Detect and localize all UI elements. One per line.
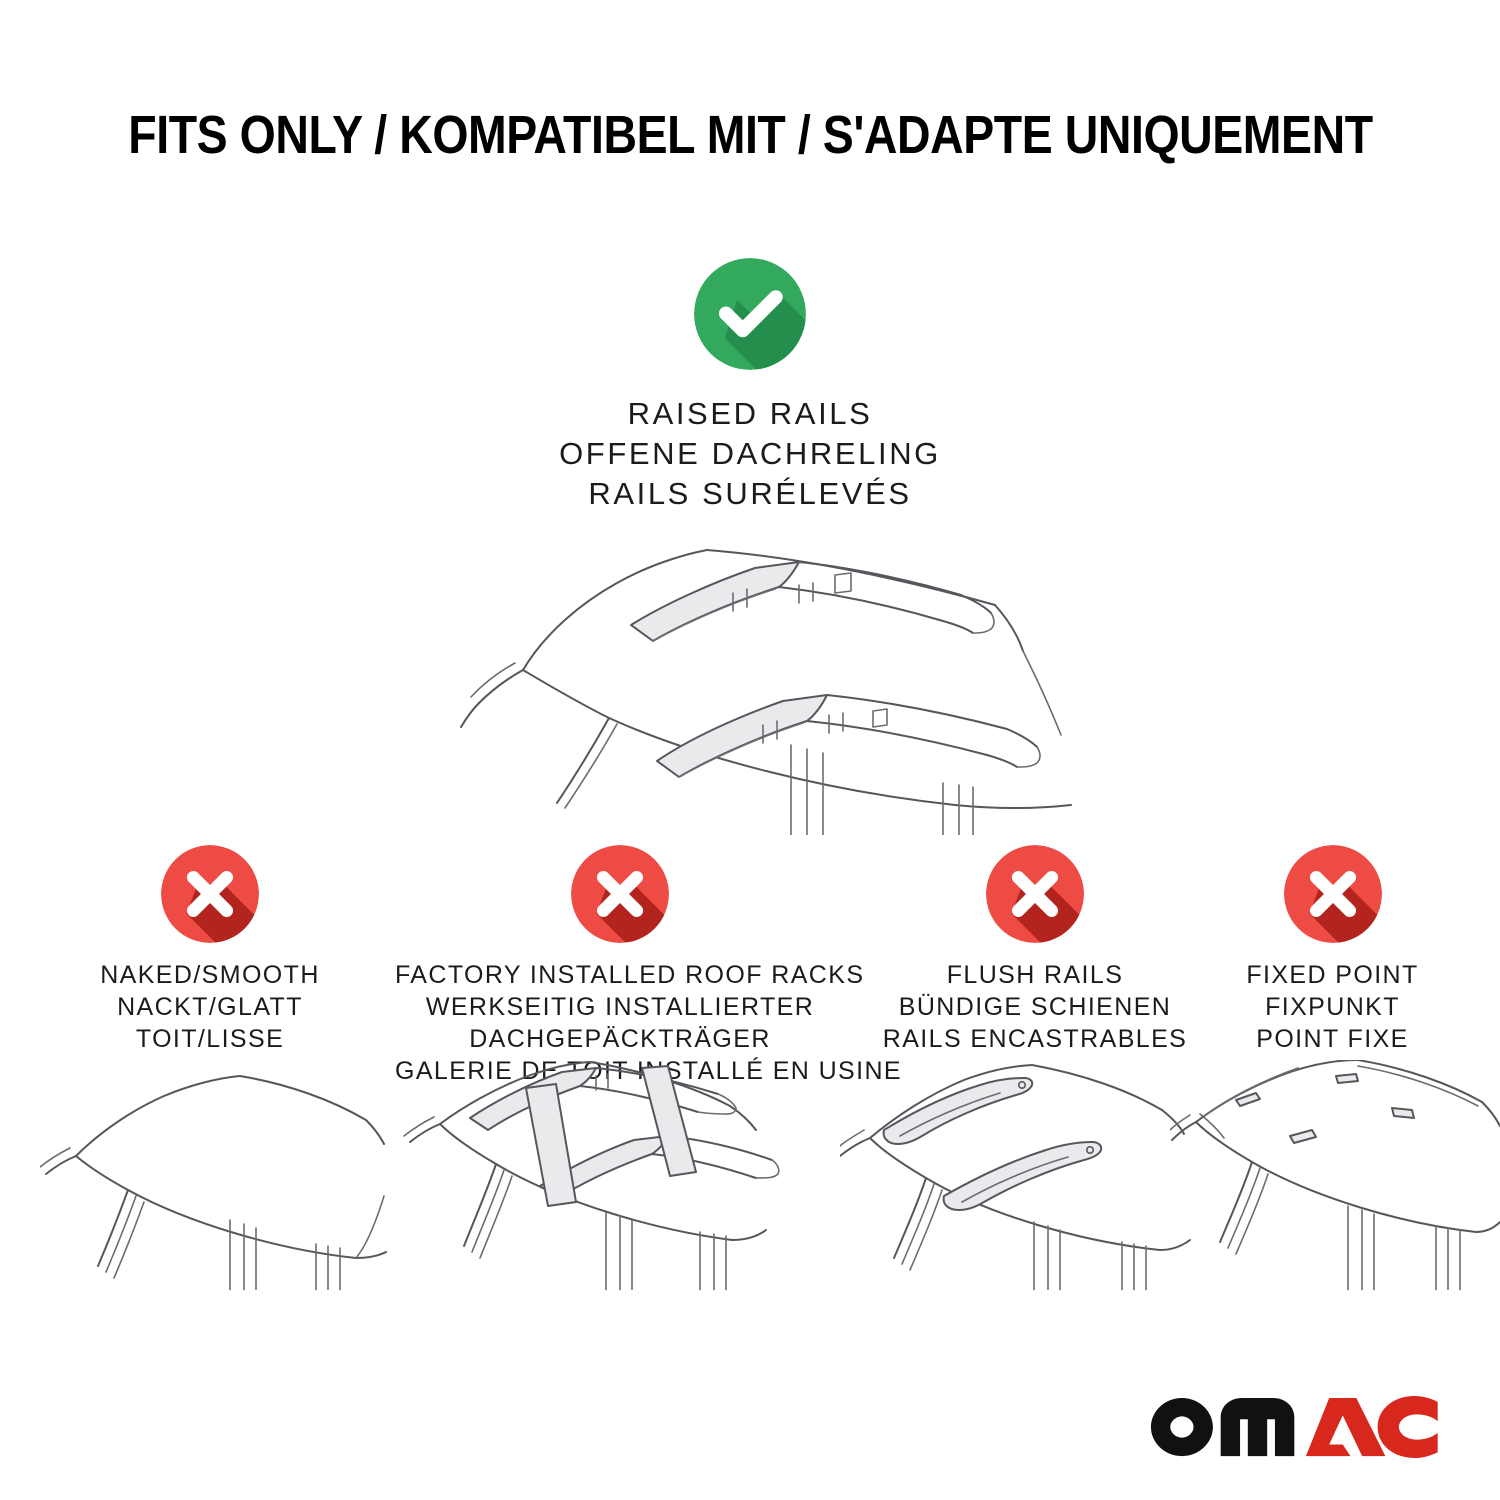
page-title-text: FITS ONLY / KOMPATIBEL MIT / S'ADAPTE UN… (128, 104, 1372, 166)
x-circle-icon (1284, 845, 1382, 943)
approved-section: RAISED RAILS OFFENE DACHRELING RAILS SUR… (0, 258, 1500, 514)
reject-label-flush-en: FLUSH RAILS (850, 959, 1220, 991)
reject-label-naked-fr: TOIT/LISSE (30, 1023, 390, 1055)
approved-label-en: RAISED RAILS (0, 394, 1500, 434)
reject-label-fixed-de: FIXPUNKT (1190, 991, 1475, 1023)
rejected-section: NAKED/SMOOTH NACKT/GLATT TOIT/LISSE (0, 845, 1500, 1465)
reject-label-naked-en: NAKED/SMOOTH (30, 959, 390, 991)
approved-label-de: OFFENE DACHRELING (0, 434, 1500, 474)
reject-label-naked-de: NACKT/GLATT (30, 991, 390, 1023)
car-roof-fixed-point-illustration (1170, 1060, 1500, 1290)
car-roof-naked-smooth-illustration (40, 1060, 390, 1290)
omac-logo-c (1378, 1396, 1438, 1458)
reject-label-fixed-en: FIXED POINT (1190, 959, 1475, 991)
reject-label-factory-de-2: DACHGEPÄCKTRÄGER (395, 1023, 845, 1055)
reject-label-flush-de: BÜNDIGE SCHIENEN (850, 991, 1220, 1023)
page-title: FITS ONLY / KOMPATIBEL MIT / S'ADAPTE UN… (0, 104, 1500, 166)
x-circle-icon (986, 845, 1084, 943)
reject-label-fixed-fr: POINT FIXE (1190, 1023, 1475, 1055)
reject-column-naked: NAKED/SMOOTH NACKT/GLATT TOIT/LISSE (30, 845, 390, 1055)
reject-labels-flush: FLUSH RAILS BÜNDIGE SCHIENEN RAILS ENCAS… (850, 959, 1220, 1055)
car-roof-factory-racks-illustration (400, 1060, 780, 1290)
reject-column-fixed: FIXED POINT FIXPUNKT POINT FIXE (1190, 845, 1475, 1055)
x-circle-icon (571, 845, 669, 943)
reject-column-factory: FACTORY INSTALLED ROOF RACKS WERKSEITIG … (395, 845, 845, 1087)
approved-labels: RAISED RAILS OFFENE DACHRELING RAILS SUR… (0, 394, 1500, 514)
reject-label-factory-de-1: WERKSEITIG INSTALLIERTER (395, 991, 845, 1023)
check-circle-icon (694, 258, 806, 370)
reject-column-flush: FLUSH RAILS BÜNDIGE SCHIENEN RAILS ENCAS… (850, 845, 1220, 1055)
omac-logo (1149, 1396, 1440, 1458)
reject-labels-fixed: FIXED POINT FIXPUNKT POINT FIXE (1190, 959, 1475, 1055)
reject-label-factory-en: FACTORY INSTALLED ROOF RACKS (395, 959, 845, 991)
reject-labels-naked: NAKED/SMOOTH NACKT/GLATT TOIT/LISSE (30, 959, 390, 1055)
car-roof-raised-rails-illustration (395, 505, 1105, 835)
omac-logo-m (1221, 1398, 1295, 1456)
omac-logo-a (1306, 1398, 1385, 1456)
car-roof-flush-rails-illustration (840, 1060, 1225, 1290)
omac-logo-o (1151, 1398, 1213, 1456)
reject-label-flush-fr: RAILS ENCASTRABLES (850, 1023, 1220, 1055)
x-circle-icon (161, 845, 259, 943)
